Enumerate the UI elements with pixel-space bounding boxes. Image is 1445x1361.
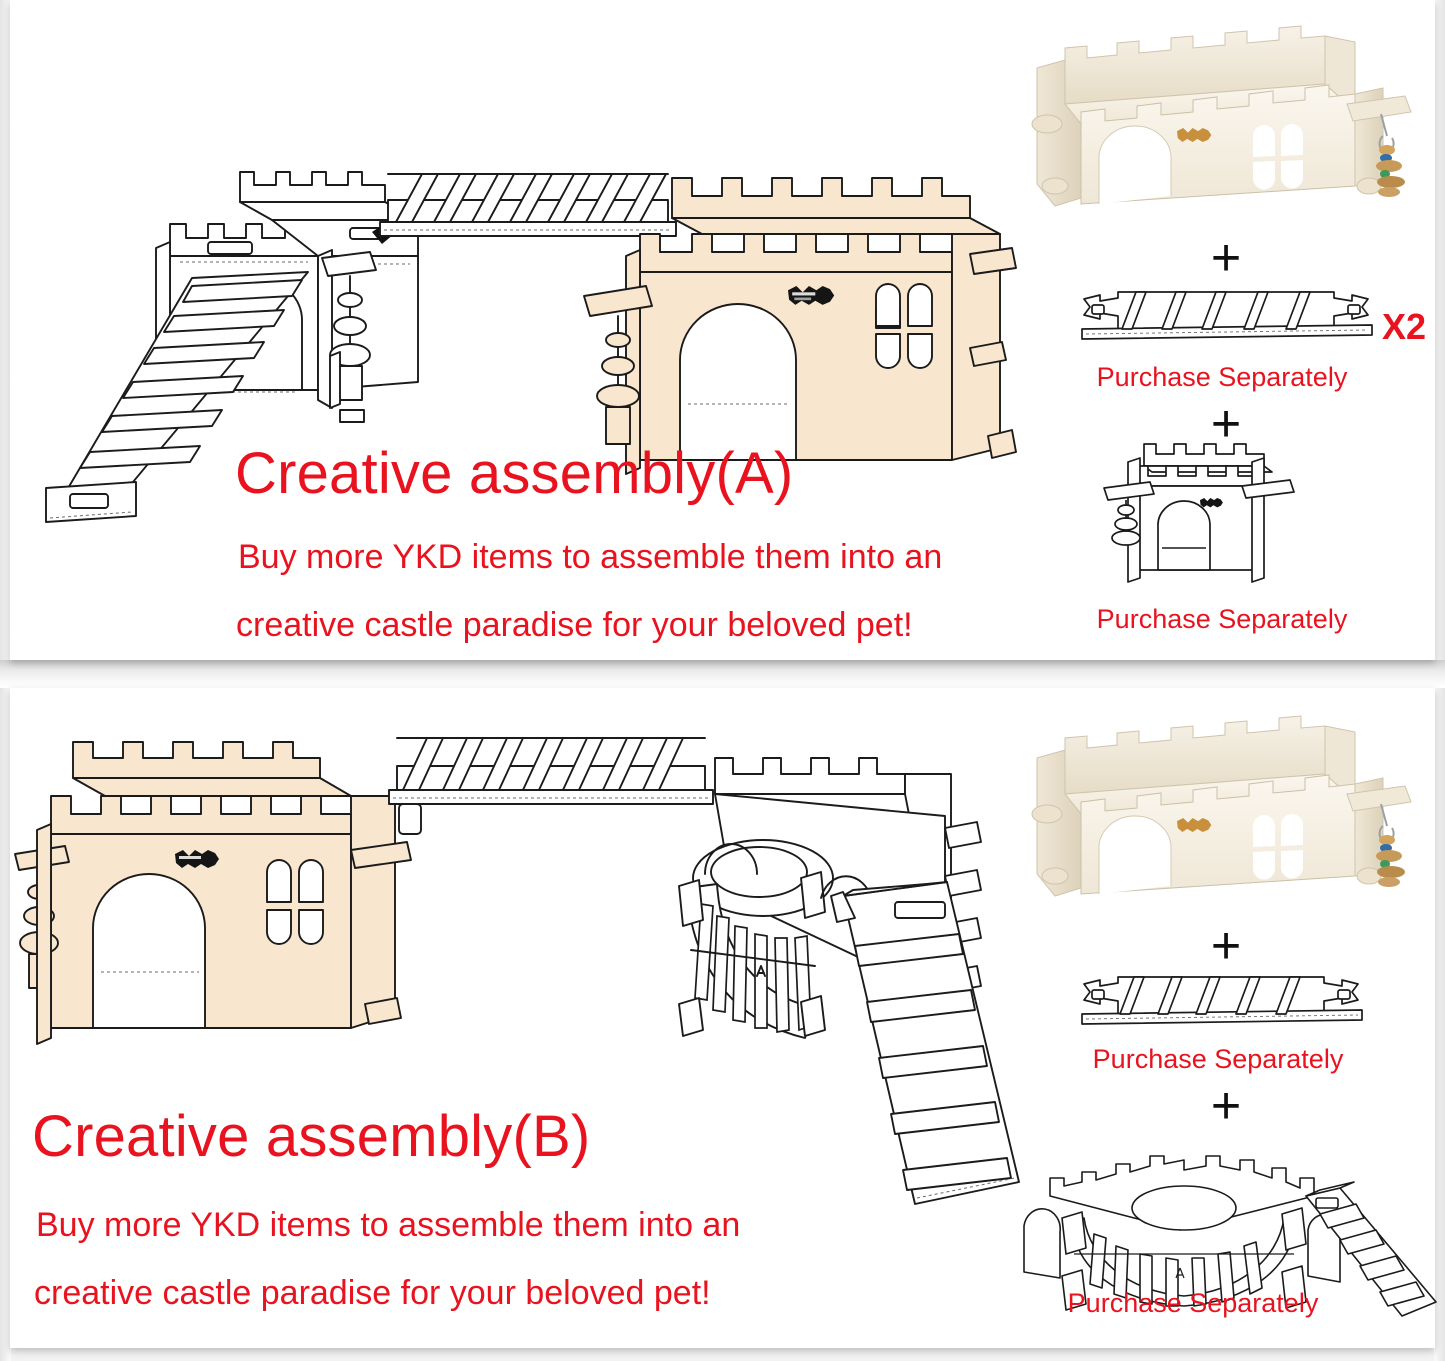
panel-creative-assembly-a: .ln{fill:none;stroke:#1b1b1b;stroke-widt… (10, 0, 1435, 660)
panel-a-castle-wall-with-toy (1100, 428, 1340, 598)
panel-a-wooden-bridge-ladder (1072, 285, 1382, 355)
panel-b-plus-2: + (1196, 1080, 1256, 1132)
assembly-a-line-drawing: .ln{fill:none;stroke:#1b1b1b;stroke-widt… (40, 160, 1040, 580)
panel-b-castle-hideout-photo (1025, 698, 1435, 920)
panel-b-title: Creative assembly(B) (32, 1103, 590, 1170)
panel-divider-shadow (0, 660, 1445, 688)
panel-a-castle-hideout-photo (1025, 8, 1435, 230)
panel-a-title: Creative assembly(A) (235, 440, 793, 507)
panel-b-body-line-1: Buy more YKD items to assemble them into… (36, 1206, 740, 1245)
panel-b-wooden-bridge-ladder (1072, 970, 1372, 1038)
panel-a-body-line-2: creative castle paradise for your belove… (236, 606, 913, 645)
panel-creative-assembly-b: .bl{fill:none;stroke:#1b1b1b;stroke-widt… (10, 688, 1435, 1348)
panel-a-body-line-1: Buy more YKD items to assemble them into… (238, 538, 942, 577)
panel-b-bridge-purchase-label: Purchase Separately (1072, 1044, 1364, 1075)
panel-a-bridge-multiplier: X2 (1382, 306, 1426, 348)
panel-b-tower-purchase-label: Purchase Separately (1038, 1288, 1348, 1319)
panel-b-body-line-2: creative castle paradise for your belove… (34, 1274, 711, 1313)
infographic-page: .ln{fill:none;stroke:#1b1b1b;stroke-widt… (0, 0, 1445, 1361)
panel-a-bridge-purchase-label: Purchase Separately (1076, 362, 1368, 393)
panel-a-plus-1: + (1196, 232, 1256, 284)
panel-b-plus-1: + (1196, 920, 1256, 972)
panel-a-castle-purchase-label: Purchase Separately (1072, 604, 1372, 635)
assembly-b-line-drawing: .bl{fill:none;stroke:#1b1b1b;stroke-widt… (15, 708, 1025, 1288)
